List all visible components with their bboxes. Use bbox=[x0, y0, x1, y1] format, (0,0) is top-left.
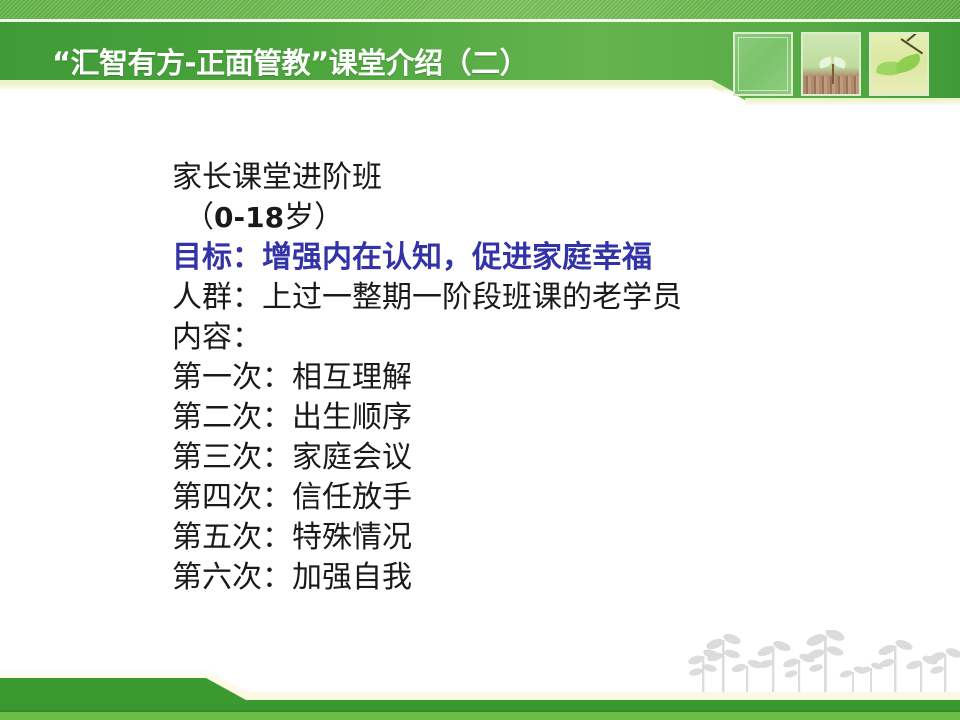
leaf-branch-thumbnail bbox=[869, 32, 929, 96]
sprout-leaf-left-icon bbox=[818, 56, 833, 69]
age-range-line: （0-18岁） bbox=[172, 198, 872, 238]
slide-body: 家长课堂进阶班 （0-18岁） 目标：增强内在认知，促进家庭幸福 人群：上过一整… bbox=[172, 158, 872, 598]
session-item: 第五次：特殊情况 bbox=[172, 518, 872, 558]
branch-icon bbox=[900, 38, 923, 54]
audience-line: 人群：上过一整期一阶段班课的老学员 bbox=[172, 278, 872, 318]
header-cream-ribbon-left bbox=[0, 82, 712, 89]
soil-texture bbox=[803, 76, 859, 94]
sprout-stem-icon bbox=[832, 64, 834, 84]
content-label: 内容： bbox=[172, 318, 872, 358]
branch-twig-icon bbox=[906, 32, 919, 42]
header-thumbnail-strip bbox=[733, 32, 933, 96]
blank-green-thumbnail bbox=[733, 32, 793, 96]
seedling-thumbnail bbox=[801, 32, 861, 96]
session-item: 第二次：出生顺序 bbox=[172, 398, 872, 438]
footer-light-green-band bbox=[0, 712, 960, 720]
slide-footer bbox=[0, 660, 960, 720]
slide-canvas: “汇智有方-正面管教”课堂介绍（二） 家长课堂进阶班 （0-18岁） 目标：增强… bbox=[0, 0, 960, 720]
session-item: 第四次：信任放手 bbox=[172, 478, 872, 518]
session-item: 第一次：相互理解 bbox=[172, 358, 872, 398]
age-range-text: （0-18岁） bbox=[184, 201, 344, 234]
slide-header: “汇智有方-正面管教”课堂介绍（二） bbox=[0, 0, 960, 115]
body-heading: 家长课堂进阶班 bbox=[172, 158, 872, 198]
goal-line: 目标：增强内在认知，促进家庭幸福 bbox=[172, 238, 872, 278]
header-top-divider bbox=[0, 19, 960, 22]
header-cream-ribbon-right bbox=[745, 98, 960, 105]
leaf-right-icon bbox=[894, 53, 923, 74]
header-top-stripe bbox=[0, 0, 960, 19]
page-title: “汇智有方-正面管教”课堂介绍（二） bbox=[52, 40, 528, 82]
session-item: 第三次：家庭会议 bbox=[172, 438, 872, 478]
age-range-number: 0-18 bbox=[214, 201, 284, 234]
session-item: 第六次：加强自我 bbox=[172, 558, 872, 598]
sprout-leaf-right-icon bbox=[832, 56, 847, 69]
